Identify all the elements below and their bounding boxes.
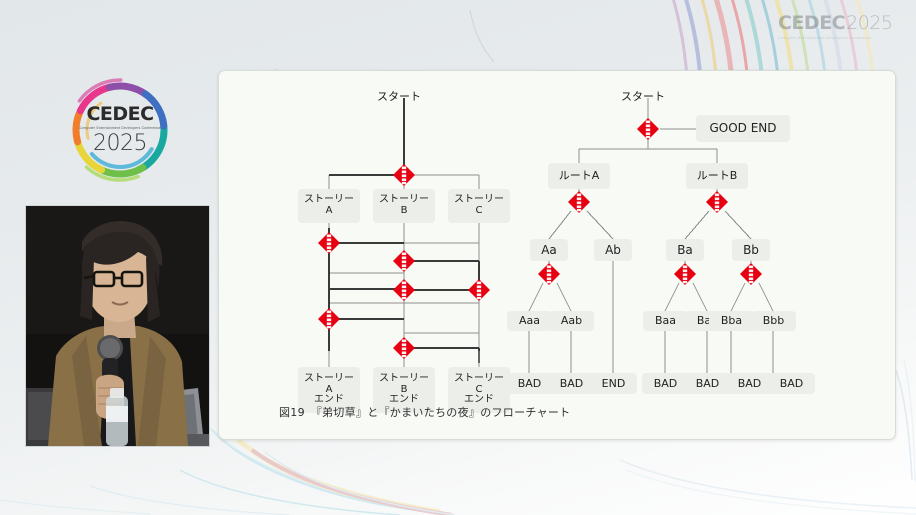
node-ending-4[interactable]: BAD bbox=[642, 373, 689, 394]
node-story-b[interactable]: ストーリー B bbox=[373, 189, 435, 223]
figure-caption: 図19 『弟切草』と『かまいたちの夜』のフローチャート bbox=[279, 404, 571, 420]
node-aaa[interactable]: Aaa bbox=[507, 311, 552, 331]
round-logo-tagline: Computer Entertainment Developers Confer… bbox=[79, 126, 161, 130]
node-line: ストーリー bbox=[379, 374, 429, 385]
node-route-a[interactable]: ルートA bbox=[548, 163, 610, 189]
cedec-header-logo: CEDEC 2025 Computer Entertainment Develo… bbox=[778, 12, 892, 40]
slide-panel: スタート ストーリー A ストーリー B ストーリー C ストーリー A エンド… bbox=[218, 70, 896, 440]
round-logo-main: CEDEC bbox=[86, 105, 153, 124]
branch-diamond bbox=[393, 164, 415, 186]
speaker-image bbox=[26, 206, 209, 446]
branch-diamond bbox=[393, 250, 415, 272]
node-line: ストーリー bbox=[454, 374, 504, 385]
cedec-header-logo-main: CEDEC bbox=[778, 12, 845, 34]
node-line: ストーリー bbox=[304, 374, 354, 385]
left-start-label: スタート bbox=[377, 88, 421, 104]
cedec-round-logo: CEDEC Computer Entertainment Developers … bbox=[66, 76, 174, 184]
node-bba[interactable]: Bba bbox=[709, 311, 754, 331]
branch-diamond bbox=[568, 191, 590, 213]
branch-diamond bbox=[393, 337, 415, 359]
branch-diamond bbox=[637, 118, 659, 140]
right-start-label: スタート bbox=[621, 88, 665, 104]
node-good-end[interactable]: GOOD END bbox=[696, 115, 790, 142]
branch-diamond bbox=[393, 279, 415, 301]
round-logo-year: 2025 bbox=[93, 133, 147, 155]
node-bb[interactable]: Bb bbox=[732, 239, 770, 261]
node-ba[interactable]: Ba bbox=[666, 239, 704, 261]
node-route-b[interactable]: ルートB bbox=[686, 163, 748, 189]
branch-diamond bbox=[318, 308, 340, 330]
node-ending-1[interactable]: BAD bbox=[506, 373, 553, 394]
speaker-video-panel[interactable] bbox=[25, 205, 210, 447]
node-story-c[interactable]: ストーリー C bbox=[448, 189, 510, 223]
node-line: B bbox=[401, 206, 408, 217]
cedec-header-logo-subtitle: Computer Entertainment Developers Confer… bbox=[778, 36, 871, 40]
node-aa[interactable]: Aa bbox=[530, 239, 568, 261]
branch-diamond bbox=[538, 263, 560, 285]
node-baa[interactable]: Baa bbox=[643, 311, 688, 331]
node-aab[interactable]: Aab bbox=[549, 311, 594, 331]
branch-diamond bbox=[468, 279, 490, 301]
branch-diamond bbox=[740, 263, 762, 285]
node-ending-2[interactable]: BAD bbox=[548, 373, 595, 394]
node-bbb[interactable]: Bbb bbox=[751, 311, 796, 331]
node-ending-7[interactable]: BAD bbox=[768, 373, 815, 394]
node-line: A bbox=[326, 206, 333, 217]
branch-diamond bbox=[318, 232, 340, 254]
node-ending-6[interactable]: BAD bbox=[726, 373, 773, 394]
node-ending-3[interactable]: END bbox=[590, 373, 637, 394]
node-ending-5[interactable]: BAD bbox=[684, 373, 731, 394]
cedec-header-logo-year: 2025 bbox=[846, 12, 892, 34]
branch-diamond bbox=[674, 263, 696, 285]
presentation-stage: CEDEC 2025 Computer Entertainment Develo… bbox=[0, 0, 916, 515]
node-line: C bbox=[476, 206, 483, 217]
node-ab[interactable]: Ab bbox=[594, 239, 632, 261]
branch-diamond bbox=[706, 191, 728, 213]
node-story-a[interactable]: ストーリー A bbox=[298, 189, 360, 223]
